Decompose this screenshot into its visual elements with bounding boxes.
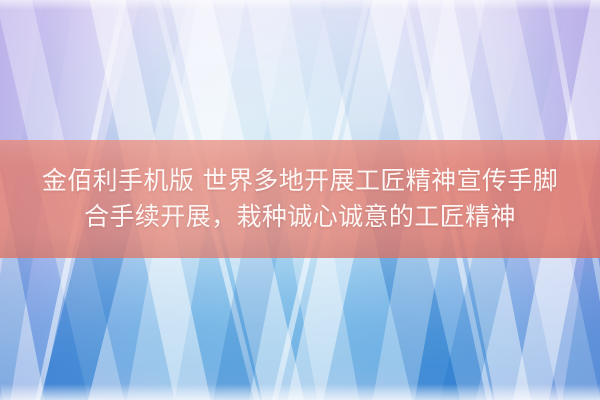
promo-banner: 金佰利手机版 世界多地开展工匠精神宣传手脚 合手续开展，栽种诚心诚意的工匠精神 …: [0, 0, 600, 400]
headline-line-1: 金佰利手机版 世界多地开展工匠精神宣传手脚: [42, 166, 558, 197]
headline-block: 金佰利手机版 世界多地开展工匠精神宣传手脚 合手续开展，栽种诚心诚意的工匠精神: [0, 140, 600, 258]
headline-line-2: 合手续开展，栽种诚心诚意的工匠精神: [84, 202, 516, 233]
